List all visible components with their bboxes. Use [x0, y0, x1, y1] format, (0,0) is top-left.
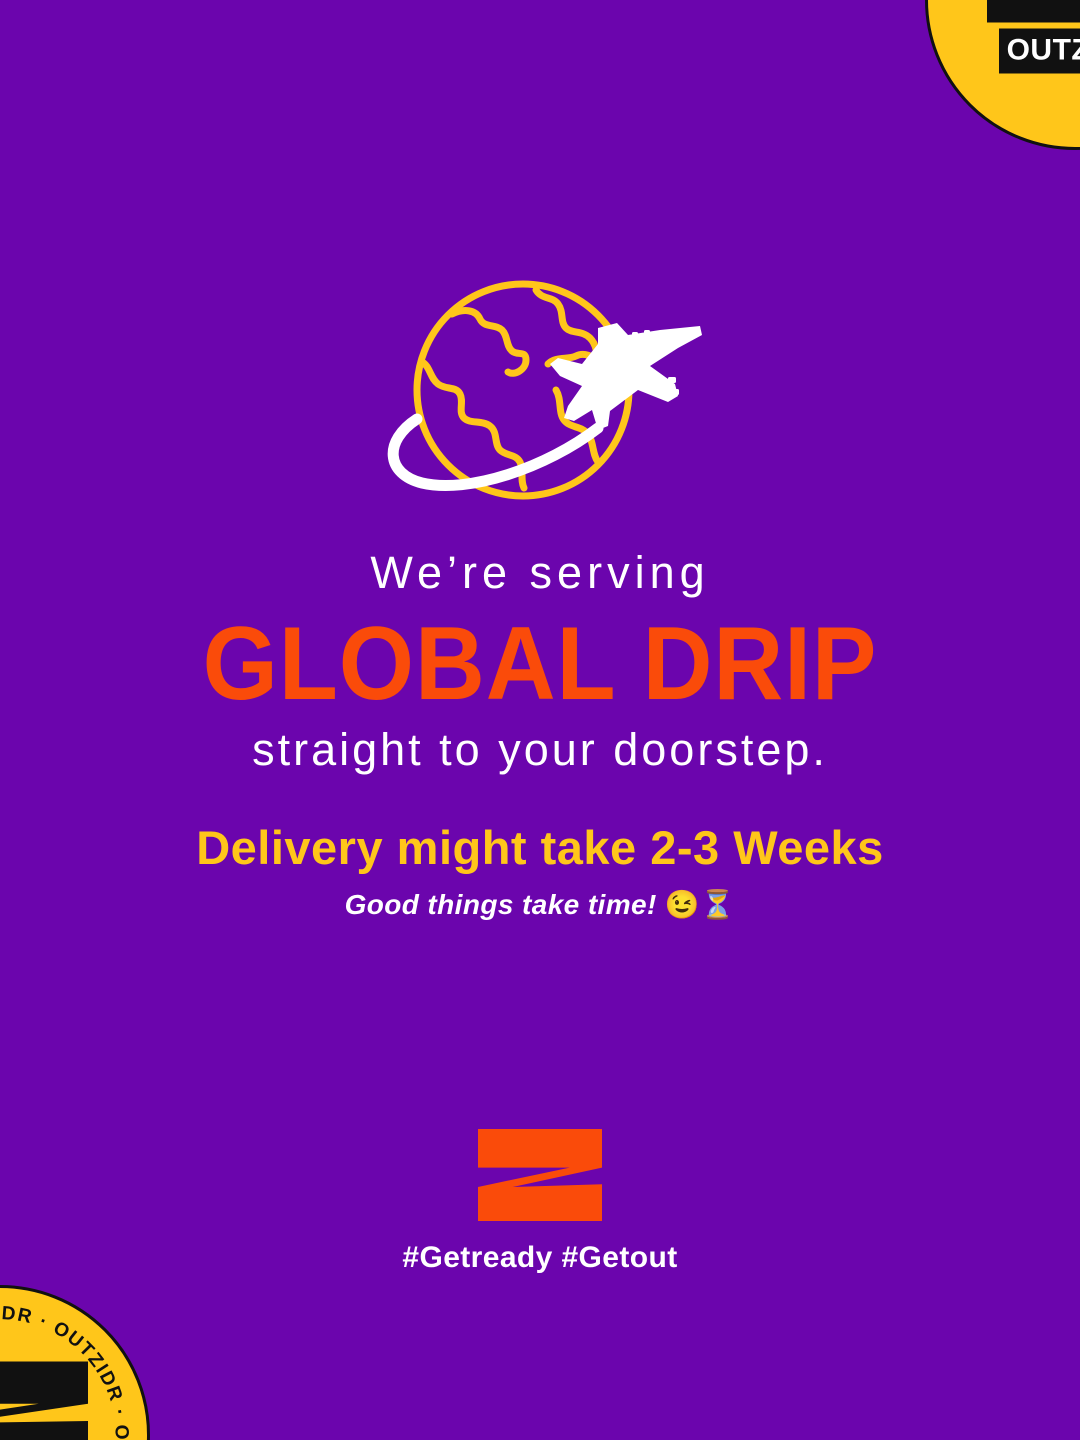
hashtags-text: #Getready #Getout — [0, 1241, 1080, 1275]
outzidr-z-logo-icon — [478, 1129, 602, 1221]
wink-hourglass-icon: 😉⏳ — [665, 889, 736, 920]
subline-text: straight to your doorstep. — [0, 724, 1080, 776]
globe-airplane-icon — [360, 278, 720, 508]
badge-core: OUTZIDR — [987, 0, 1080, 74]
badge-wordmark: OUTZIDR — [999, 29, 1080, 74]
delivery-block: Delivery might take 2-3 Weeks Good thing… — [0, 822, 1080, 921]
z-mark-icon — [0, 1362, 88, 1440]
delivery-note-text: Good things take time! — [345, 889, 657, 920]
page-title: GLOBAL DRIP — [38, 612, 1042, 716]
delivery-note: Good things take time! 😉⏳ — [0, 888, 1080, 921]
badge-bottom-left: OUTZIDR · OUTZIDR · OUTZIDR · OUTZIDR · … — [0, 1285, 150, 1440]
badge-top-right: OUTZIDR · OUTZIDR · OUTZIDR · OUTZIDR · … — [925, 0, 1080, 150]
copy-block: We’re serving GLOBAL DRIP straight to yo… — [0, 548, 1080, 775]
delivery-notice: Delivery might take 2-3 Weeks — [0, 822, 1080, 874]
footer-block: #Getready #Getout — [0, 1129, 1080, 1275]
z-mark-icon — [987, 0, 1080, 23]
kicker-text: We’re serving — [0, 548, 1080, 598]
promo-poster: OUTZIDR · OUTZIDR · OUTZIDR · OUTZIDR · … — [0, 0, 1080, 1440]
badge-core: OUTZIDR — [0, 1362, 88, 1440]
